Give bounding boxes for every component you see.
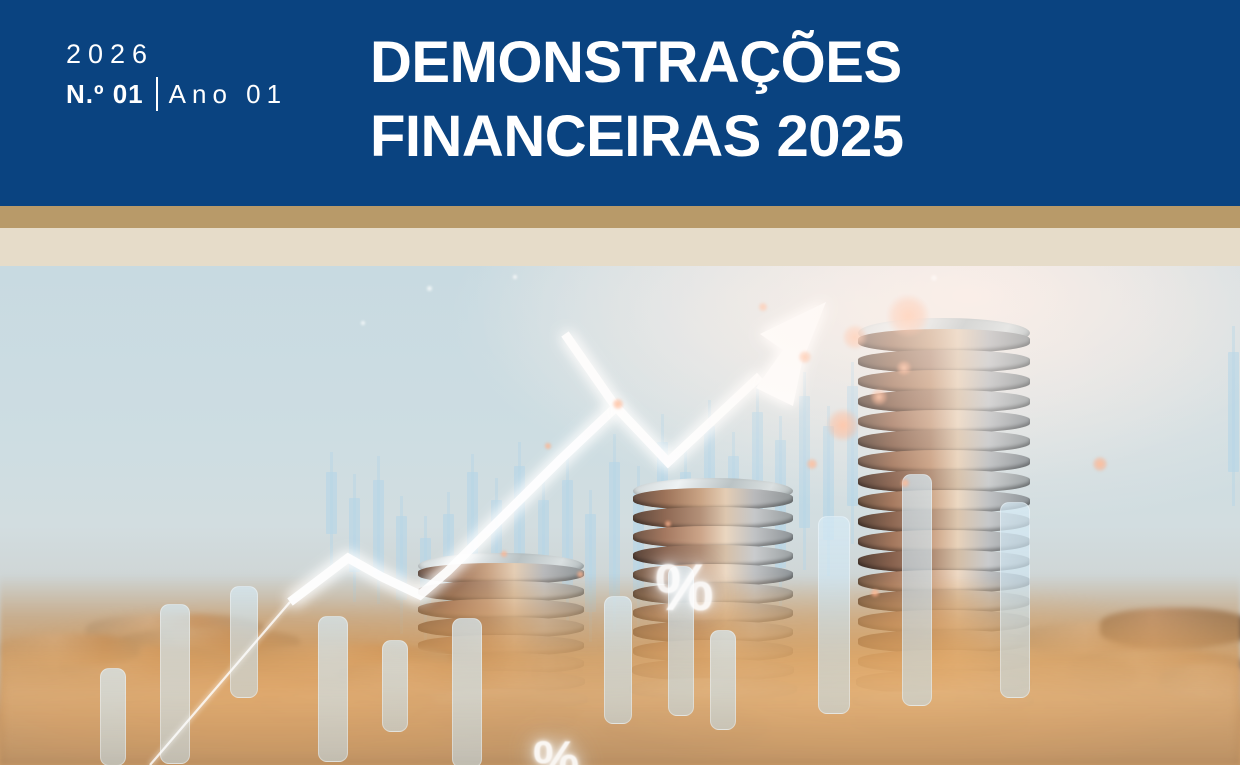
issue-year: 2026 xyxy=(66,41,287,68)
issue-line: N.º 01 Ano 01 xyxy=(66,77,287,111)
hero-image: % % % xyxy=(0,266,1240,765)
trend-arrow-head xyxy=(756,302,826,406)
page-title: DEMONSTRAÇÕES FINANCEIRAS 2025 xyxy=(370,26,903,174)
magazine-cover: 2026 N.º 01 Ano 01 DEMONSTRAÇÕES FINANCE… xyxy=(0,0,1240,765)
cover-header: 2026 N.º 01 Ano 01 DEMONSTRAÇÕES FINANCE… xyxy=(0,0,1240,206)
trend-line-overlay xyxy=(0,266,1240,765)
percent-icon-2: % xyxy=(533,734,579,765)
percent-icon-3: % xyxy=(655,554,714,620)
issue-number: N.º 01 xyxy=(66,81,144,107)
trend-line-lead xyxy=(150,602,290,765)
issue-block: 2026 N.º 01 Ano 01 xyxy=(66,41,287,111)
issue-separator-icon xyxy=(156,77,158,111)
page-title-line-1: DEMONSTRAÇÕES xyxy=(370,26,903,100)
trend-line-main xyxy=(290,334,616,602)
cream-divider-band xyxy=(0,228,1240,266)
gold-divider-band xyxy=(0,206,1240,228)
issue-volume: Ano 01 xyxy=(169,81,287,107)
page-title-line-2: FINANCEIRAS 2025 xyxy=(370,100,903,174)
